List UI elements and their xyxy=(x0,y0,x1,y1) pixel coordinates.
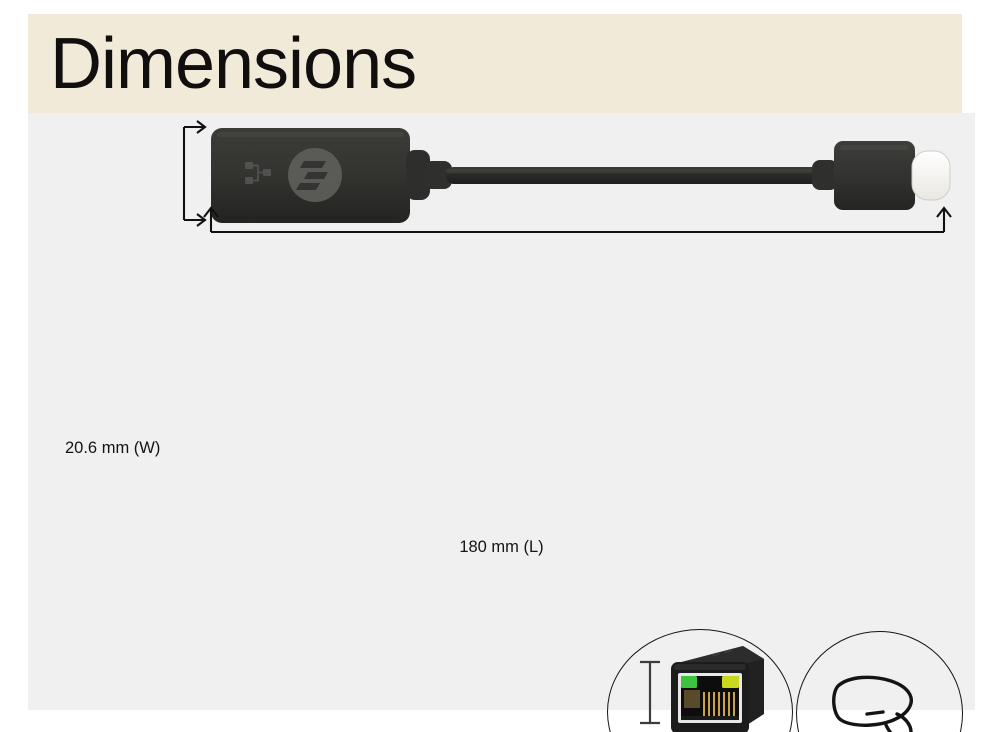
led-yellow xyxy=(722,676,739,688)
width-dimension-label: 20.6 mm (W) xyxy=(65,439,160,458)
width-dimension-bracket xyxy=(184,121,205,226)
rj45-housing xyxy=(671,646,764,732)
length-dimension-label: 180 mm (L) xyxy=(28,538,975,557)
weight-badge: 20 gr xyxy=(796,631,963,732)
dimensions-infographic: Dimensions xyxy=(0,0,992,732)
product-illustration xyxy=(28,113,975,473)
header-band: Dimensions xyxy=(28,14,962,113)
height-badge: 16.5 mm (H) xyxy=(607,629,793,732)
led-green xyxy=(681,676,697,688)
feather-icon xyxy=(797,632,962,732)
height-dimension-bar xyxy=(640,662,660,723)
hp-logo-icon xyxy=(288,148,342,202)
rj45-port-icon xyxy=(608,630,792,732)
cable xyxy=(424,160,838,190)
rj45-pins xyxy=(704,692,734,716)
adapter-diagram xyxy=(28,113,975,473)
usb-c-connector xyxy=(834,141,950,210)
content-panel: 20.6 mm (W) 180 mm (L) xyxy=(28,113,975,710)
page-title: Dimensions xyxy=(50,28,416,100)
